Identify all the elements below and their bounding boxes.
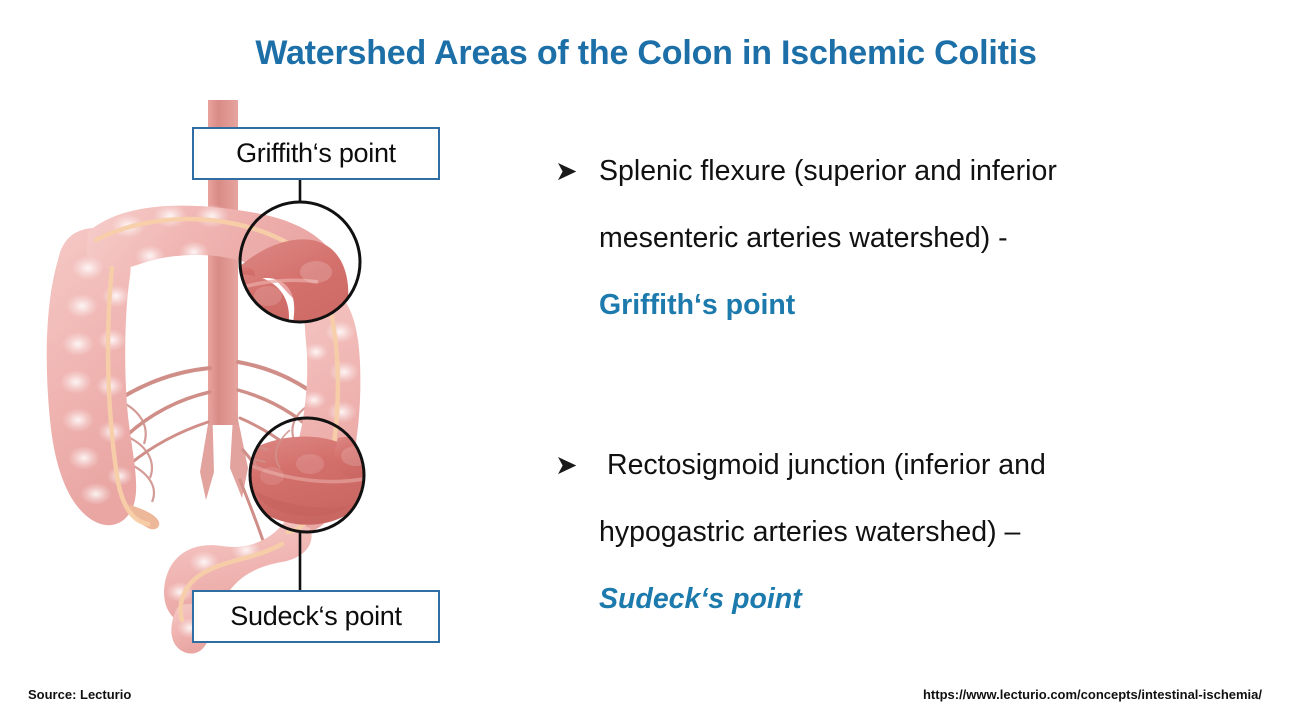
- bullet-item-splenic-flexure: ➤ Splenic flexure (superior and inferior…: [555, 138, 1235, 339]
- bullet-2-line-2: hypogastric arteries watershed) –: [599, 499, 1235, 566]
- colon-anatomy-illustration: [0, 100, 520, 670]
- bullet-1-term-griffith: Griffith‘s point: [599, 272, 1235, 339]
- bullet-item-rectosigmoid: ➤ Rectosigmoid junction (inferior and hy…: [555, 432, 1235, 633]
- bullet-2-term-sudeck: Sudeck‘s point: [599, 566, 1235, 633]
- footer-source-label: Source: Lecturio: [28, 687, 131, 702]
- bullet-1-line-2: mesenteric arteries watershed) -: [599, 205, 1235, 272]
- colon-figure-panel: [0, 100, 520, 670]
- footer-url-label: https://www.lecturio.com/concepts/intest…: [923, 687, 1262, 702]
- bullet-list: ➤ Splenic flexure (superior and inferior…: [555, 138, 1235, 633]
- bullet-1-line-1: Splenic flexure (superior and inferior: [599, 138, 1235, 205]
- bullet-2-line-1: Rectosigmoid junction (inferior and: [599, 432, 1235, 499]
- page-title: Watershed Areas of the Colon in Ischemic…: [0, 34, 1292, 73]
- bullet-arrow-icon: ➤: [555, 138, 578, 205]
- callout-label-sudeck: Sudeck‘s point: [192, 590, 440, 643]
- bullet-arrow-icon: ➤: [555, 432, 578, 499]
- callout-label-griffith: Griffith‘s point: [192, 127, 440, 180]
